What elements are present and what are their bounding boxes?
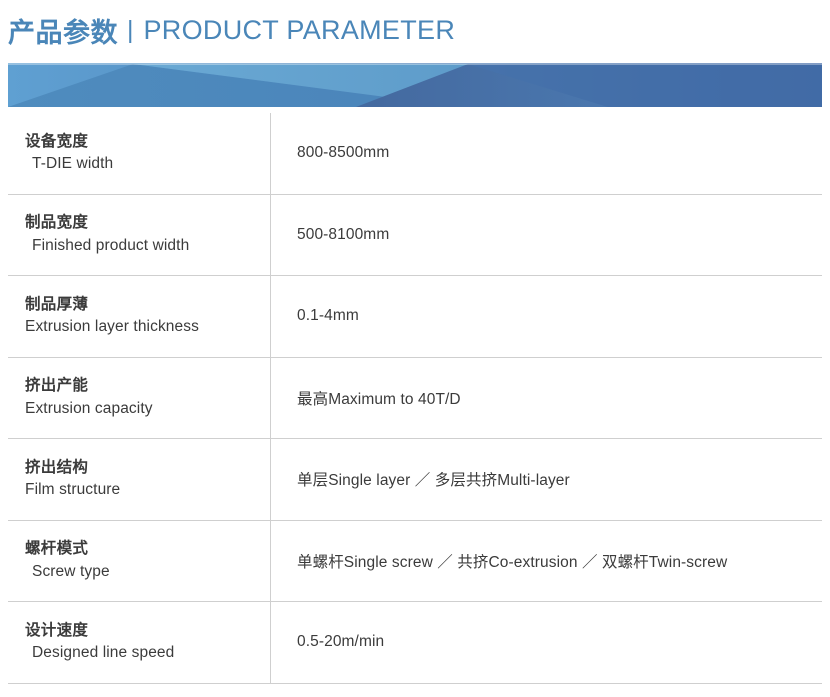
spec-label-cn: 挤出结构 — [25, 457, 270, 479]
spec-table: 设备宽度 T-DIE width 800-8500mm 制品宽度 Finishe… — [8, 113, 822, 684]
spec-label-cell: 挤出结构 Film structure — [8, 439, 271, 520]
spec-label-en: Film structure — [25, 479, 270, 501]
spec-value-cell: 500-8100mm — [271, 195, 822, 276]
decorative-banner — [8, 63, 822, 107]
table-row: 设计速度 Designed line speed 0.5-20m/min — [8, 602, 822, 684]
spec-label-cn: 挤出产能 — [25, 375, 270, 397]
spec-label-cell: 制品厚薄 Extrusion layer thickness — [8, 276, 271, 357]
table-row: 挤出结构 Film structure 单层Single layer ／ 多层共… — [8, 439, 822, 521]
spec-label-cell: 制品宽度 Finished product width — [8, 195, 271, 276]
page-title-cn: 产品参数 — [8, 11, 118, 50]
spec-label-en: Screw type — [25, 561, 270, 583]
spec-label-en: Designed line speed — [25, 642, 270, 664]
table-row: 设备宽度 T-DIE width 800-8500mm — [8, 113, 822, 195]
spec-label-cn: 制品厚薄 — [25, 294, 270, 316]
spec-value-cell: 单螺杆Single screw ／ 共挤Co-extrusion ／ 双螺杆Tw… — [271, 521, 822, 602]
spec-label-cn: 设备宽度 — [25, 131, 270, 153]
spec-label-cn: 设计速度 — [25, 620, 270, 642]
table-row: 制品厚薄 Extrusion layer thickness 0.1-4mm — [8, 276, 822, 358]
spec-label-en: Extrusion layer thickness — [25, 316, 270, 338]
spec-label-cell: 挤出产能 Extrusion capacity — [8, 358, 271, 439]
spec-label-cell: 螺杆模式 Screw type — [8, 521, 271, 602]
spec-label-cell: 设备宽度 T-DIE width — [8, 113, 271, 194]
page-title-en: PRODUCT PARAMETER — [144, 15, 456, 46]
spec-value-cell: 0.1-4mm — [271, 276, 822, 357]
spec-label-cell: 设计速度 Designed line speed — [8, 602, 271, 683]
spec-value-cell: 最高Maximum to 40T/D — [271, 358, 822, 439]
table-row: 制品宽度 Finished product width 500-8100mm — [8, 195, 822, 277]
spec-value-cell: 单层Single layer ／ 多层共挤Multi-layer — [271, 439, 822, 520]
page-title-separator: | — [127, 16, 134, 45]
spec-label-cn: 制品宽度 — [25, 212, 270, 234]
banner-graphic — [8, 63, 822, 107]
spec-value-cell: 0.5-20m/min — [271, 602, 822, 683]
table-row: 挤出产能 Extrusion capacity 最高Maximum to 40T… — [8, 358, 822, 440]
spec-label-cn: 螺杆模式 — [25, 538, 270, 560]
spec-label-en: T-DIE width — [25, 153, 270, 175]
spec-label-en: Extrusion capacity — [25, 398, 270, 420]
table-row: 螺杆模式 Screw type 单螺杆Single screw ／ 共挤Co-e… — [8, 521, 822, 603]
page-title: 产品参数 | PRODUCT PARAMETER — [8, 8, 822, 52]
spec-value-cell: 800-8500mm — [271, 113, 822, 194]
spec-label-en: Finished product width — [25, 235, 270, 257]
product-parameter-page: 产品参数 | PRODUCT PARAMETER — [0, 0, 830, 697]
